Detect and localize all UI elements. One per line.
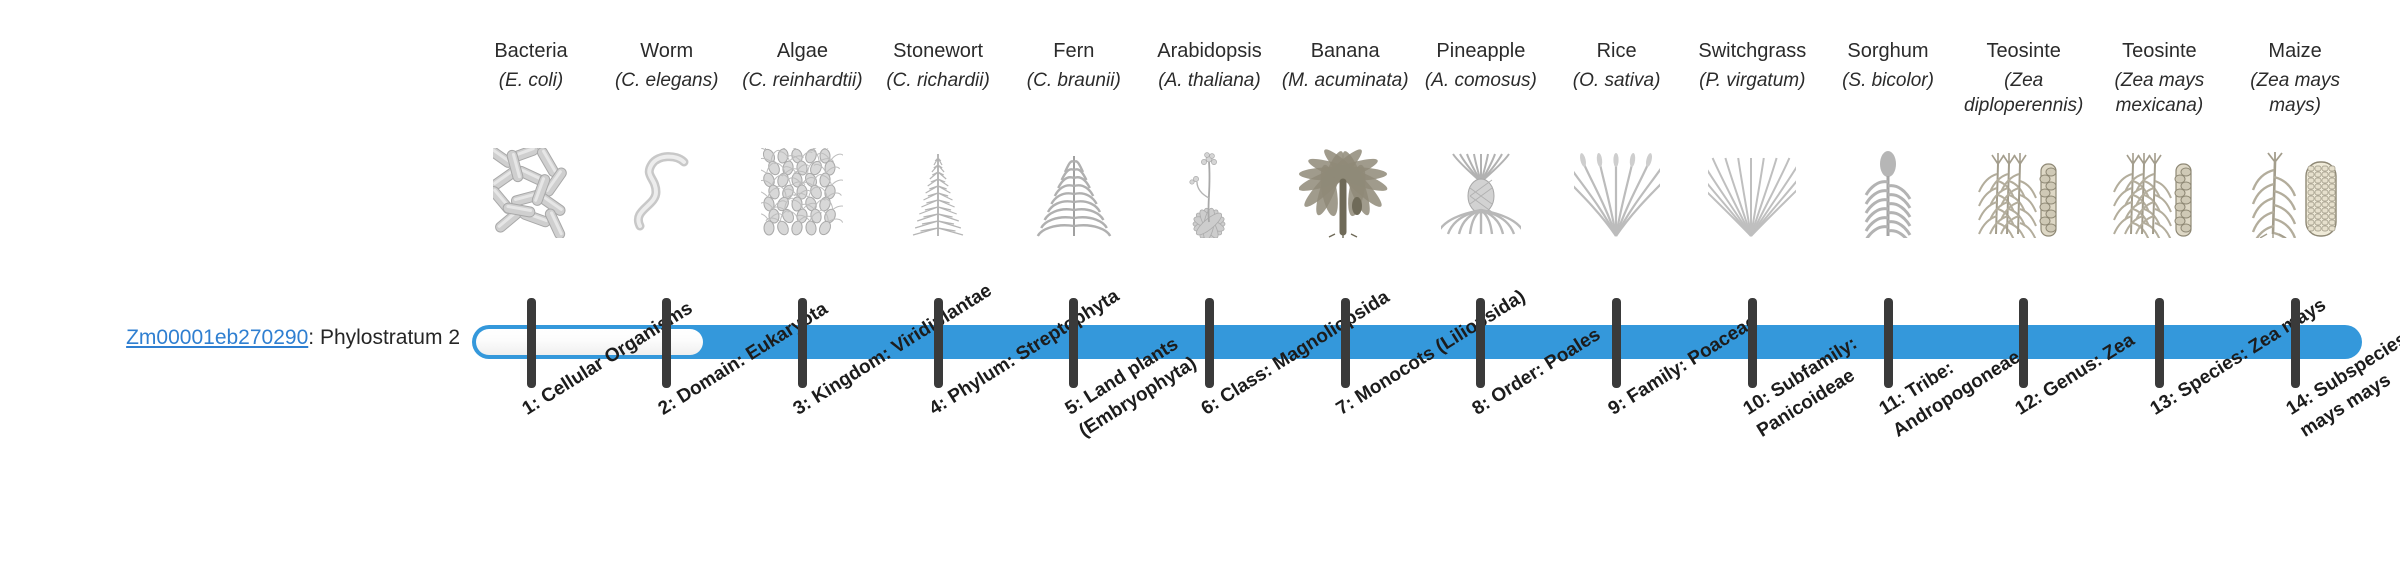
species-column: Sorghum(S. bicolor) — [1822, 38, 1954, 93]
maize-icon — [2220, 148, 2370, 238]
gene-id-link[interactable]: Zm00001eb270290 — [126, 326, 308, 349]
species-common-name: Switchgrass — [1686, 38, 1818, 64]
species-column: Maize(Zea mays mays) — [2229, 38, 2361, 118]
phylostratum-tick — [1748, 298, 1757, 388]
species-column: Teosinte(Zea diploperennis) — [1958, 38, 2090, 118]
phylostratum-tick — [2155, 298, 2164, 388]
species-common-name: Arabidopsis — [1144, 38, 1276, 64]
caption-separator: : — [308, 326, 320, 349]
species-common-name: Algae — [736, 38, 868, 64]
species-column: Bacteria(E. coli) — [465, 38, 597, 93]
species-scientific-name: (C. reinhardtii) — [736, 68, 868, 93]
species-common-name: Sorghum — [1822, 38, 1954, 64]
phylostratum-tick — [527, 298, 536, 388]
phylostratum-value: Phylostratum 2 — [320, 326, 460, 349]
species-column: Teosinte(Zea mays mexicana) — [2093, 38, 2225, 118]
species-common-name: Worm — [601, 38, 733, 64]
phylostratum-tick — [662, 298, 671, 388]
worm-icon — [592, 148, 742, 238]
pineapple-icon — [1406, 148, 1556, 238]
species-scientific-name: (A. thaliana) — [1144, 68, 1276, 93]
phylostratum-tick — [798, 298, 807, 388]
species-column: Stonewort(C. richardii) — [872, 38, 1004, 93]
species-scientific-name: (E. coli) — [465, 68, 597, 93]
species-common-name: Rice — [1551, 38, 1683, 64]
species-column: Fern(C. braunii) — [1008, 38, 1140, 93]
species-column: Pineapple(A. comosus) — [1415, 38, 1547, 93]
species-scientific-name: (C. richardii) — [872, 68, 1004, 93]
phylostratum-tick — [1069, 298, 1078, 388]
phylostratum-tick — [1884, 298, 1893, 388]
species-scientific-name: (S. bicolor) — [1822, 68, 1954, 93]
arabidopsis-icon — [1135, 148, 1285, 238]
species-column: Algae(C. reinhardtii) — [736, 38, 868, 93]
species-common-name: Maize — [2229, 38, 2361, 64]
species-common-name: Teosinte — [2093, 38, 2225, 64]
species-scientific-name: (Zea mays mays) — [2229, 68, 2361, 118]
species-common-name: Banana — [1279, 38, 1411, 64]
stonewort-icon — [863, 148, 1013, 238]
species-scientific-name: (A. comosus) — [1415, 68, 1547, 93]
species-common-name: Stonewort — [872, 38, 1004, 64]
bacteria-icon — [456, 148, 606, 238]
species-column: Rice(O. sativa) — [1551, 38, 1683, 93]
banana-icon — [1270, 148, 1420, 238]
phylostratum-tick — [934, 298, 943, 388]
species-scientific-name: (O. sativa) — [1551, 68, 1683, 93]
phylostratum-tick — [2019, 298, 2028, 388]
species-common-name: Fern — [1008, 38, 1140, 64]
phylostratum-tick — [2291, 298, 2300, 388]
gene-caption: Zm00001eb270290: Phylostratum 2 — [0, 325, 460, 351]
sorghum-icon — [1813, 148, 1963, 238]
phylostratum-tick — [1612, 298, 1621, 388]
species-scientific-name: (C. braunii) — [1008, 68, 1140, 93]
species-column: Arabidopsis(A. thaliana) — [1144, 38, 1276, 93]
teosinte-icon — [1949, 148, 2099, 238]
species-common-name: Teosinte — [1958, 38, 2090, 64]
species-common-name: Pineapple — [1415, 38, 1547, 64]
species-column: Switchgrass(P. virgatum) — [1686, 38, 1818, 93]
species-column: Worm(C. elegans) — [601, 38, 733, 93]
species-scientific-name: (M. acuminata) — [1279, 68, 1411, 93]
species-scientific-name: (Zea diploperennis) — [1958, 68, 2090, 118]
species-scientific-name: (P. virgatum) — [1686, 68, 1818, 93]
phylostratum-tick — [1476, 298, 1485, 388]
species-column: Banana(M. acuminata) — [1279, 38, 1411, 93]
phylostratigraphy-figure: Zm00001eb270290: Phylostratum 2 Bacteria… — [0, 0, 2400, 580]
phylostratum-tick — [1341, 298, 1350, 388]
species-scientific-name: (Zea mays mexicana) — [2093, 68, 2225, 118]
rice-icon — [1542, 148, 1692, 238]
fern-icon — [999, 148, 1149, 238]
species-common-name: Bacteria — [465, 38, 597, 64]
phylostratum-tick — [1205, 298, 1214, 388]
switchgrass-icon — [1677, 148, 1827, 238]
teosinte-icon — [2084, 148, 2234, 238]
algae-icon — [727, 148, 877, 238]
species-scientific-name: (C. elegans) — [601, 68, 733, 93]
